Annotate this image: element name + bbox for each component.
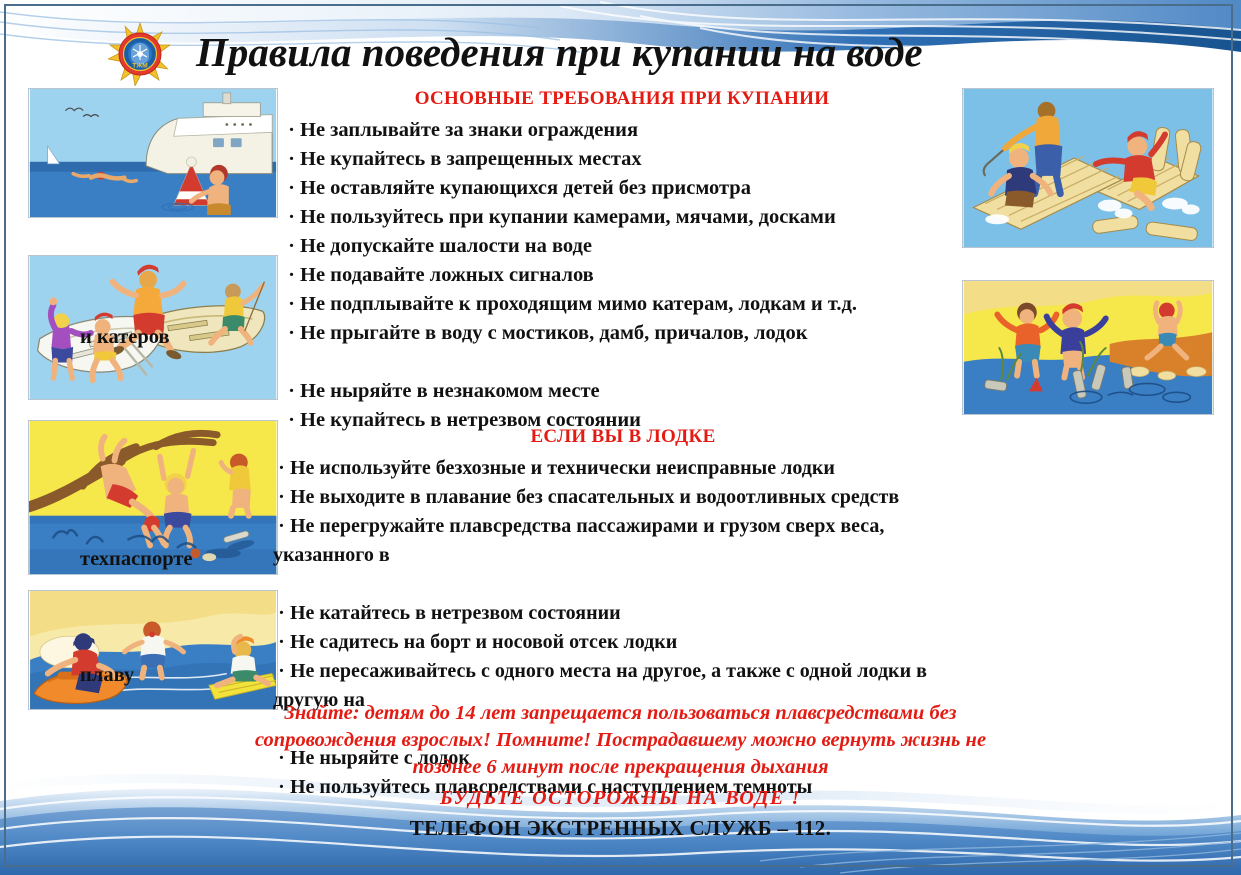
rule-text: Не подавайте ложных сигналов bbox=[300, 264, 594, 286]
illustration-log-raft bbox=[962, 88, 1214, 248]
svg-text:ТЖМ: ТЖМ bbox=[132, 63, 147, 70]
warning-line-3: позднее 6 минут после прекращения дыхани… bbox=[0, 754, 1241, 781]
list-item: ·Не ныряйте в незнакомом месте bbox=[283, 377, 961, 406]
be-careful-slogan: БУДЬТЕ ОСТОРОЖНЫ НА ВОДЕ ! bbox=[0, 783, 1241, 813]
poster-footer: Знайте: детям до 14 лет запрещается поль… bbox=[0, 700, 1241, 843]
section-basic-heading: ОСНОВНЫЕ ТРЕБОВАНИЯ ПРИ КУПАНИИ bbox=[283, 88, 961, 110]
rule-text: Не оставляйте купающихся детей без присм… bbox=[300, 177, 751, 199]
rule-text: Не прыгайте в воду с мостиков, дамб, при… bbox=[300, 322, 808, 344]
bullet-icon: · bbox=[273, 454, 290, 483]
bullet-icon: · bbox=[273, 657, 290, 686]
wrapped-line-tehpasporte: техпаспорте bbox=[80, 545, 193, 574]
rule-text: Не садитесь на борт и носовой отсек лодк… bbox=[290, 631, 677, 653]
rule-text: Не перегружайте плавсредства пассажирами… bbox=[273, 515, 884, 566]
list-item: ·Не катайтесь в нетрезвом состоянии bbox=[273, 599, 973, 628]
bullet-icon: · bbox=[283, 116, 300, 145]
bullet-icon: · bbox=[273, 512, 290, 541]
list-item: ·Не допускайте шалости на воде bbox=[283, 232, 961, 261]
list-item: ·Не используйте безхозные и технически н… bbox=[273, 454, 973, 483]
section-boat-heading: ЕСЛИ ВЫ В ЛОДКЕ bbox=[273, 426, 973, 448]
poster-header: ТЖМ Правила поведения при купании на вод… bbox=[0, 0, 1241, 92]
illustration-jetski bbox=[28, 590, 278, 710]
illustration-jump-shallow bbox=[962, 280, 1214, 415]
basic-rules-list: ·Не заплывайте за знаки ограждения ·Не к… bbox=[283, 116, 961, 348]
warning-line-1: Знайте: детям до 14 лет запрещается поль… bbox=[0, 700, 1241, 727]
wrapped-line-plavu: плаву bbox=[80, 661, 134, 690]
list-item: ·Не прыгайте в воду с мостиков, дамб, пр… bbox=[283, 319, 961, 348]
list-item: ·Не выходите в плавание без спасательных… bbox=[273, 483, 973, 512]
bullet-icon: · bbox=[283, 145, 300, 174]
list-item: ·Не заплывайте за знаки ограждения bbox=[283, 116, 961, 145]
list-item: ·Не подплывайте к проходящим мимо катера… bbox=[283, 290, 961, 319]
bullet-icon: · bbox=[283, 232, 300, 261]
wrapped-line-katerov: и катеров bbox=[80, 323, 170, 352]
list-item: ·Не садитесь на борт и носовой отсек лод… bbox=[273, 628, 973, 657]
boat-rules-list-continued: ·Не катайтесь в нетрезвом состоянии ·Не … bbox=[273, 599, 973, 715]
rule-text: Не катайтесь в нетрезвом состоянии bbox=[290, 602, 621, 624]
rule-text: Не пользуйтесь при купании камерами, мяч… bbox=[300, 206, 836, 228]
rule-text: Не выходите в плавание без спасательных … bbox=[290, 486, 899, 508]
kazakhstan-emergency-service-emblem-icon: ТЖМ bbox=[108, 22, 172, 86]
emergency-phone-number: ТЕЛЕФОН ЭКСТРЕННЫХ СЛУЖБ – 112. bbox=[0, 813, 1241, 843]
bullet-icon: · bbox=[283, 319, 300, 348]
bullet-icon: · bbox=[283, 377, 300, 406]
illustration-swimmer-ship bbox=[28, 88, 278, 218]
safety-poster: ТЖМ Правила поведения при купании на вод… bbox=[0, 0, 1241, 875]
bullet-icon: · bbox=[273, 628, 290, 657]
list-item: ·Не перегружайте плавсредства пассажирам… bbox=[273, 512, 973, 570]
rule-text: Не ныряйте в незнакомом месте bbox=[300, 380, 600, 402]
bullet-icon: · bbox=[283, 203, 300, 232]
page-title: Правила поведения при купании на воде bbox=[196, 24, 1136, 82]
bullet-icon: · bbox=[283, 290, 300, 319]
boat-rules-list: ·Не используйте безхозные и технически н… bbox=[273, 454, 973, 570]
section-basic-requirements: ОСНОВНЫЕ ТРЕБОВАНИЯ ПРИ КУПАНИИ ·Не запл… bbox=[283, 88, 961, 435]
rule-text: Не заплывайте за знаки ограждения bbox=[300, 119, 638, 141]
bullet-icon: · bbox=[283, 261, 300, 290]
rule-text: Не допускайте шалости на воде bbox=[300, 235, 592, 257]
bullet-icon: · bbox=[273, 599, 290, 628]
rule-text: Не подплывайте к проходящим мимо катерам… bbox=[300, 293, 857, 315]
rule-text: Не используйте безхозные и технически не… bbox=[290, 457, 835, 479]
rule-text: Не купайтесь в запрещенных местах bbox=[300, 148, 642, 170]
warning-block: Знайте: детям до 14 лет запрещается поль… bbox=[0, 700, 1241, 781]
bullet-icon: · bbox=[273, 483, 290, 512]
list-item: ·Не пользуйтесь при купании камерами, мя… bbox=[283, 203, 961, 232]
list-item: ·Не подавайте ложных сигналов bbox=[283, 261, 961, 290]
warning-line-2: сопровождения взрослых! Помните! Пострад… bbox=[0, 727, 1241, 754]
list-item: ·Не оставляйте купающихся детей без прис… bbox=[283, 174, 961, 203]
list-item: ·Не купайтесь в запрещенных местах bbox=[283, 145, 961, 174]
bullet-icon: · bbox=[283, 174, 300, 203]
